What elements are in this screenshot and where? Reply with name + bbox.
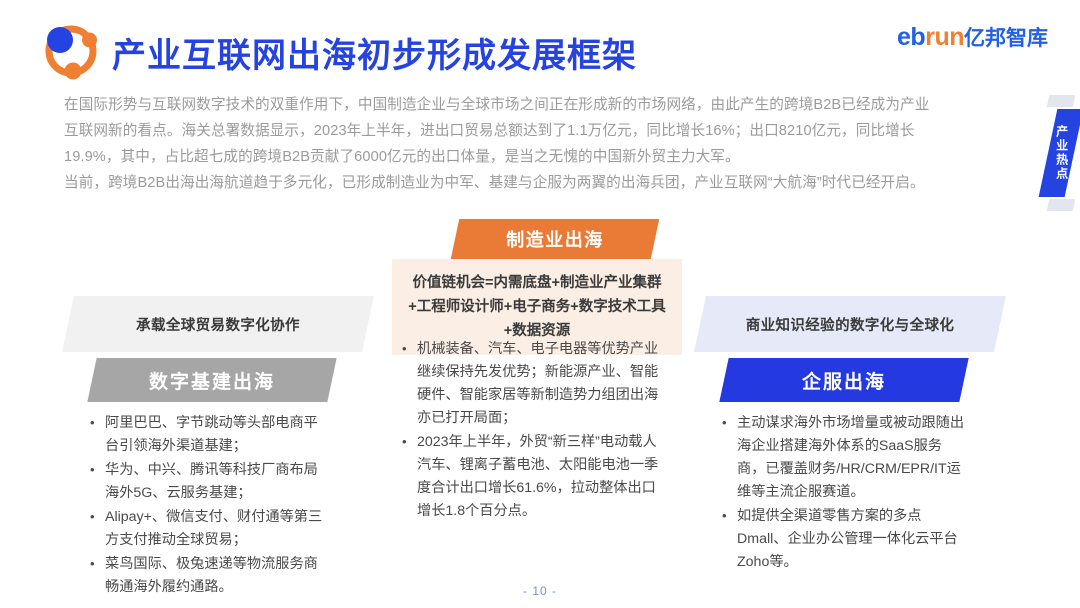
network-nodes-logo-icon	[40, 23, 102, 81]
intro-paragraph: 在国际形势与互联网数字技术的双重作用下，中国制造企业与全球市场之间正在形成新的市…	[64, 92, 1026, 196]
intro-line-3: 19.9%，其中，占比超七成的跨境B2B贡献了6000亿元的出口体量，是当之无愧…	[64, 144, 1026, 170]
brand-part-run: run	[925, 23, 964, 51]
ebrun-brand-logo: ebrun亿邦智库	[897, 25, 1048, 50]
side-tab-label: 产业热点	[1048, 109, 1074, 197]
right-banner: 企服出海	[719, 358, 968, 402]
list-item: 阿里巴巴、字节跳动等头部电商平台引领海外渠道基建；	[88, 412, 328, 458]
list-item: 如提供全渠道零售方案的多点Dmall、企业办公管理一体化云平台Zoho等。	[720, 505, 968, 574]
side-stripe-top	[1047, 95, 1076, 107]
left-panel-header-label: 承载全球贸易数字化协作	[68, 296, 368, 352]
slide-root: 产业互联网出海初步形成发展框架 ebrun亿邦智库 在国际形势与互联网数字技术的…	[0, 0, 1080, 608]
center-bullet-list: 机械装备、汽车、电子电器等优势产业继续保持先发优势；新能源产业、智能硬件、智能家…	[400, 338, 662, 524]
page-title: 产业互联网出海初步形成发展框架	[112, 28, 637, 77]
left-banner: 数字基建出海	[87, 358, 336, 402]
left-panel-header: 承载全球贸易数字化协作	[62, 296, 374, 352]
side-tab-industry-hotspot[interactable]: 产业热点	[1039, 109, 1080, 197]
side-stripe-bottom	[1047, 199, 1076, 211]
center-banner: 制造业出海	[451, 219, 660, 259]
left-banner-label: 数字基建出海	[92, 358, 332, 402]
list-item: 主动谋求海外市场增量或被动跟随出海企业搭建海外体系的SaaS服务商，已覆盖财务/…	[720, 412, 968, 504]
list-item: 华为、中兴、腾讯等科技厂商布局海外5G、云服务基建；	[88, 459, 328, 505]
intro-line-2: 互联网新的看点。海关总署数据显示，2023年上半年，进出口贸易总额达到了1.1万…	[64, 118, 1026, 144]
slide-header: 产业互联网出海初步形成发展框架 ebrun亿邦智库	[0, 0, 1080, 90]
right-panel-header-label: 商业知识经验的数字化与全球化	[700, 296, 1000, 352]
brand-part-cn: 亿邦智库	[964, 27, 1048, 50]
list-item: 2023年上半年，外贸“新三样”电动载人汽车、锂离子蓄电池、太阳能电池一季度合计…	[400, 431, 662, 523]
page-number: - 10 -	[0, 584, 1080, 598]
right-banner-label: 企服出海	[724, 358, 964, 402]
right-bullet-list: 主动谋求海外市场增量或被动跟随出海企业搭建海外体系的SaaS服务商，已覆盖财务/…	[720, 412, 968, 575]
brand-part-eb: eb	[897, 23, 925, 51]
side-tab-group[interactable]: 产业热点	[1040, 95, 1080, 215]
left-bullet-list: 阿里巴巴、字节跳动等头部电商平台引领海外渠道基建； 华为、中兴、腾讯等科技厂商布…	[88, 412, 328, 600]
list-item: 机械装备、汽车、电子电器等优势产业继续保持先发优势；新能源产业、智能硬件、智能家…	[400, 338, 662, 430]
intro-line-4: 当前，跨境B2B出海出海航道趋于多元化，已形成制造业为中军、基建与企服为两翼的出…	[64, 170, 1026, 196]
center-banner-label: 制造业出海	[455, 219, 655, 259]
list-item: Alipay+、微信支付、财付通等第三方支付推动全球贸易；	[88, 506, 328, 552]
right-panel-header: 商业知识经验的数字化与全球化	[694, 296, 1006, 352]
intro-line-1: 在国际形势与互联网数字技术的双重作用下，中国制造企业与全球市场之间正在形成新的市…	[64, 92, 1026, 118]
